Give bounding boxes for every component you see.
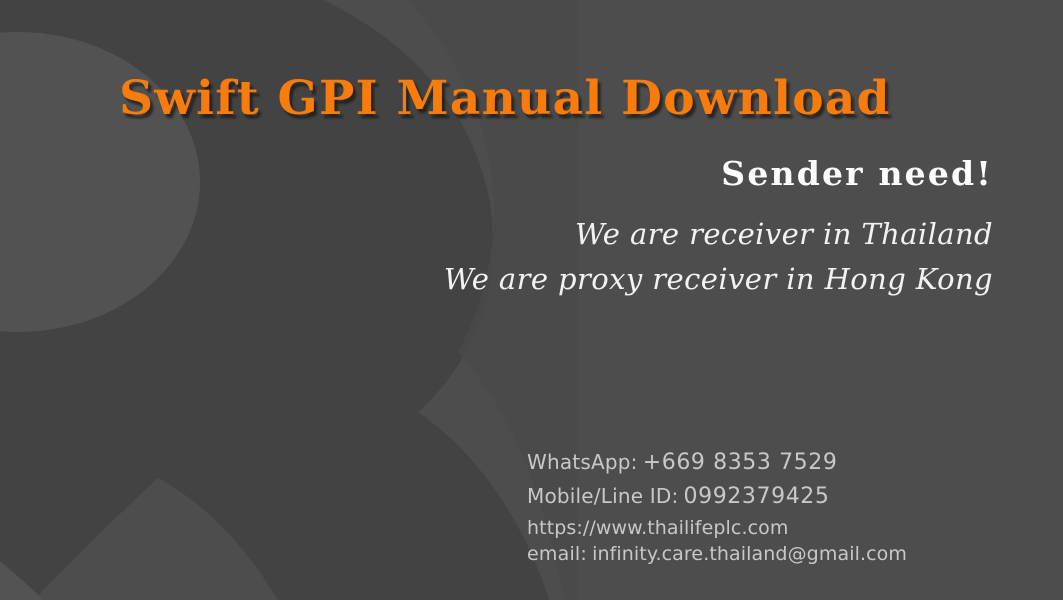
contact-email[interactable]: email: infinity.care.thailand@gmail.com (527, 543, 907, 565)
contact-whatsapp: WhatsApp: +669 8353 7529 (527, 450, 907, 475)
headline-block: Sender need! We are receiver in Thailand… (233, 155, 993, 302)
contact-whatsapp-label: WhatsApp: (527, 450, 638, 474)
contact-mobile-line-label: Mobile/Line ID: (527, 484, 678, 508)
receiver-line-hong-kong: We are proxy receiver in Hong Kong (233, 258, 993, 302)
sender-need-heading: Sender need! (233, 155, 993, 193)
contact-whatsapp-value: +669 8353 7529 (643, 450, 838, 475)
contact-email-value[interactable]: infinity.care.thailand@gmail.com (592, 543, 907, 565)
contact-website[interactable]: https://www.thailifeplc.com (527, 517, 907, 539)
title-block: Swift GPI Manual Download (0, 74, 1010, 124)
contact-website-url[interactable]: https://www.thailifeplc.com (527, 517, 788, 539)
slide-canvas: Swift GPI Manual Download Sender need! W… (0, 0, 1063, 600)
page-title: Swift GPI Manual Download (0, 74, 1010, 124)
contact-email-label: email: (527, 543, 587, 565)
contact-mobile-line-value: 0992379425 (684, 484, 830, 509)
contact-mobile-line: Mobile/Line ID: 0992379425 (527, 484, 907, 509)
receiver-line-thailand: We are receiver in Thailand (233, 213, 993, 257)
contact-block: WhatsApp: +669 8353 7529 Mobile/Line ID:… (527, 450, 907, 565)
